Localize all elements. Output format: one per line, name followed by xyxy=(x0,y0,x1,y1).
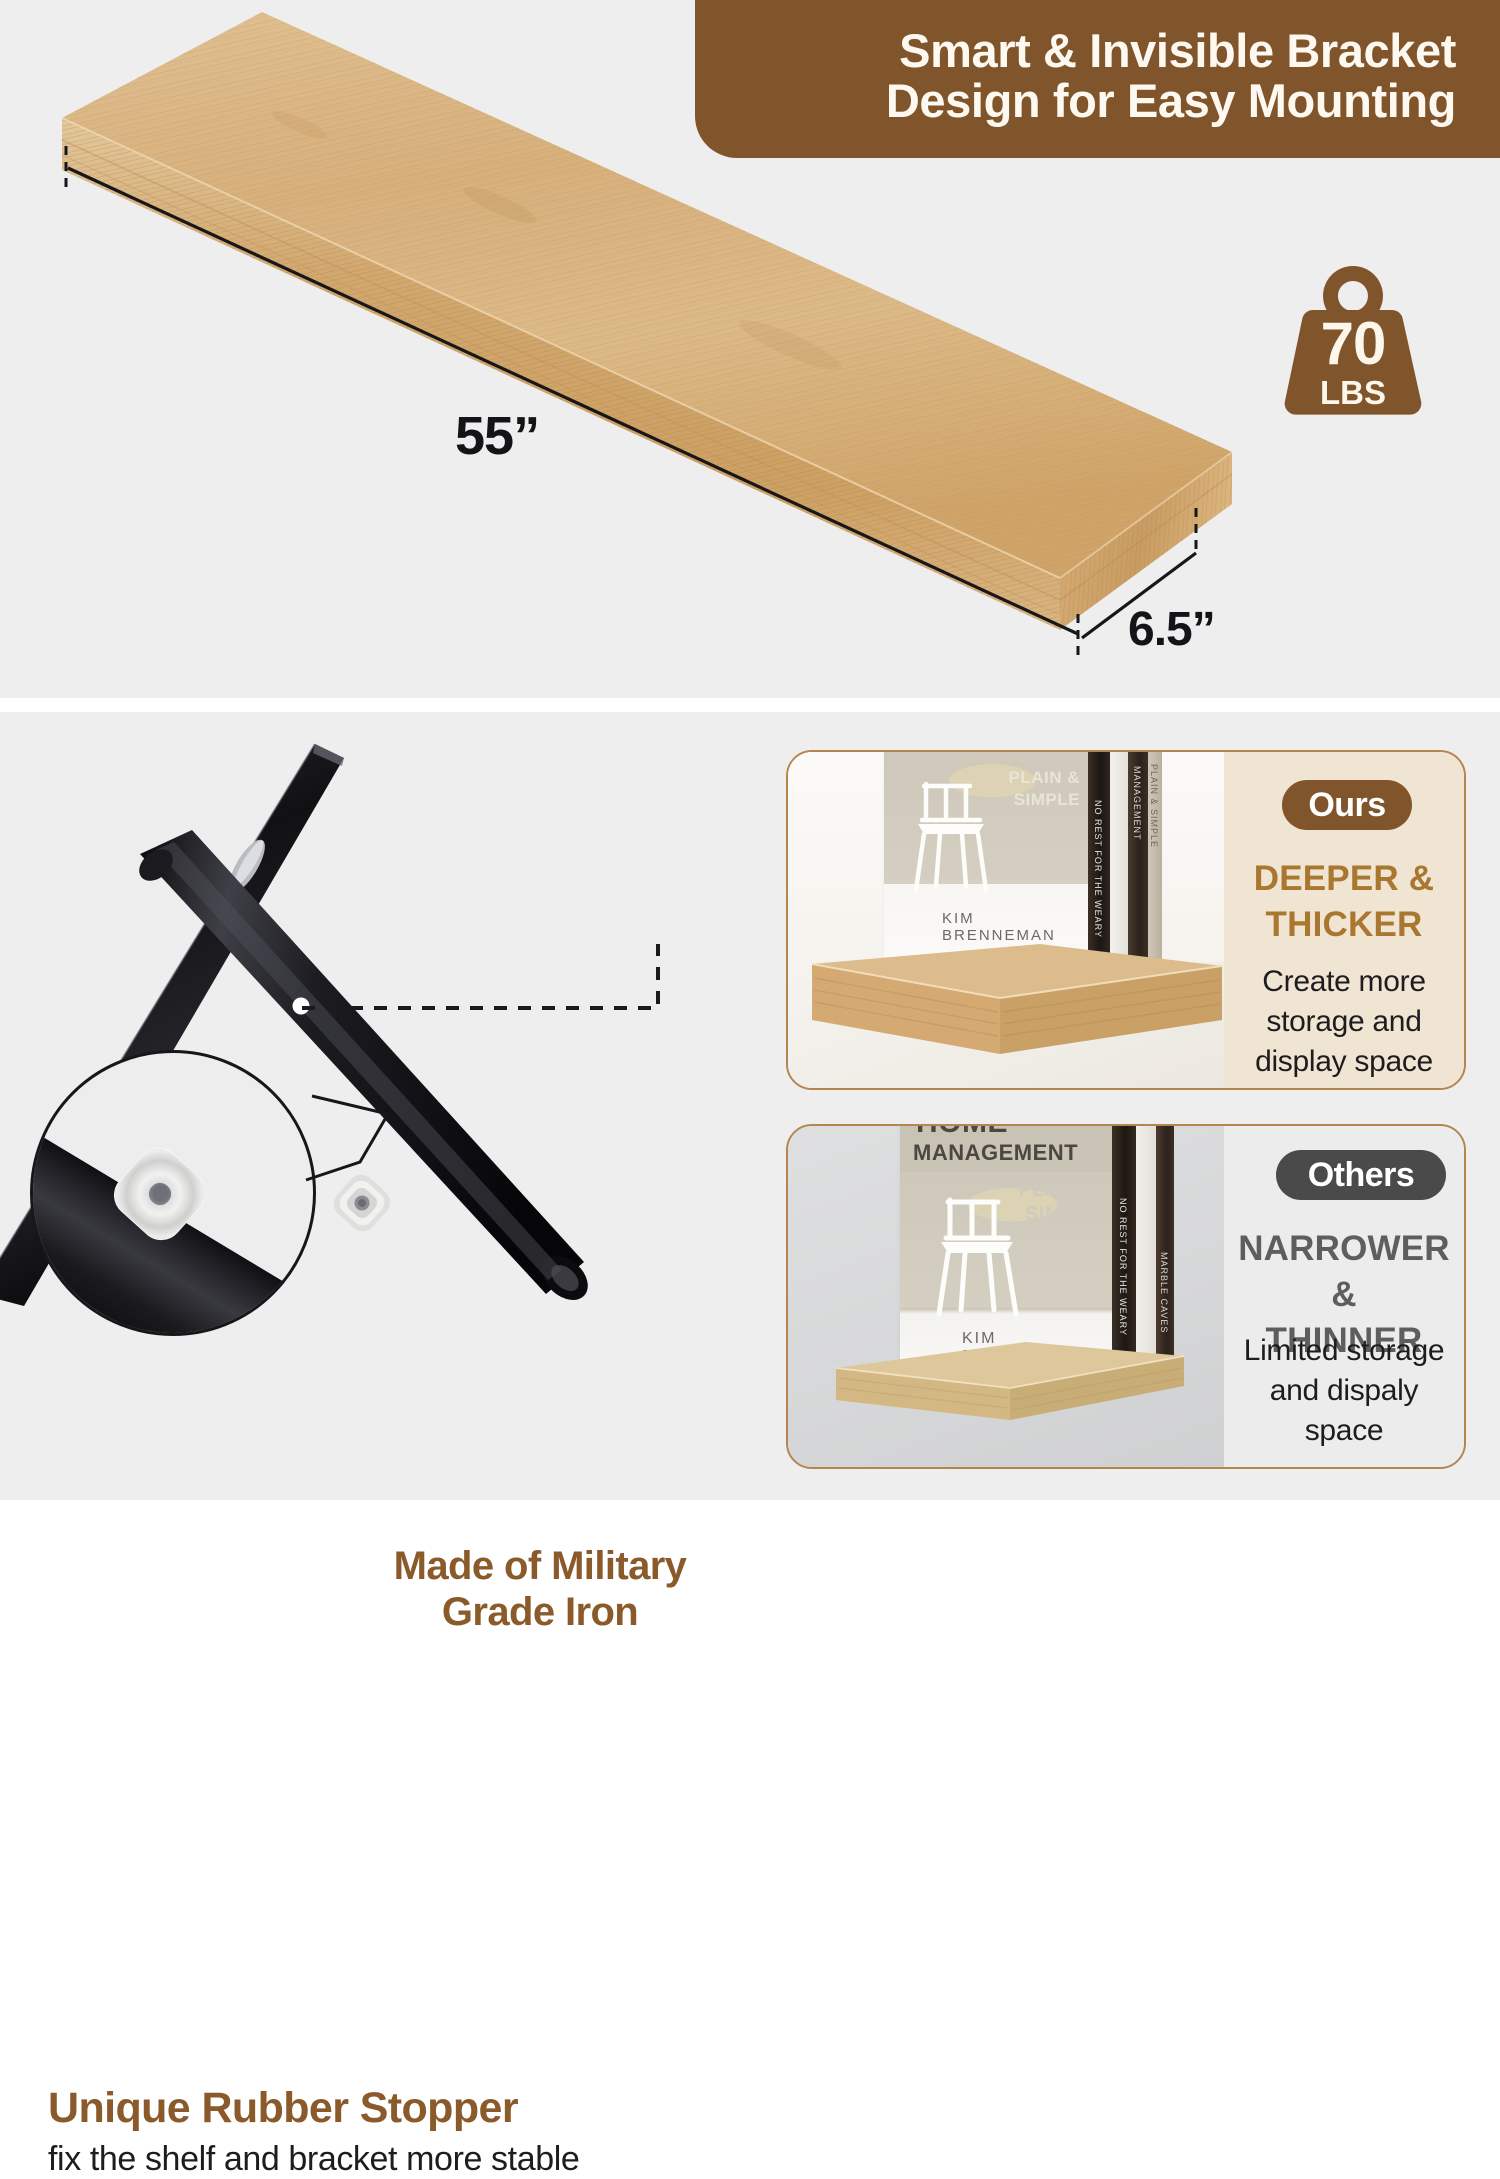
section-divider xyxy=(0,698,1500,712)
depth-dimension-label: 6.5” xyxy=(1128,602,1215,657)
military-line-1: Made of Military xyxy=(340,1544,740,1590)
others-photo: HOME MANAGEMENT PLAIN & SIMPLE KIM BRENN… xyxy=(788,1126,1224,1467)
weight-unit: LBS xyxy=(1283,376,1423,409)
others-body-line3: space xyxy=(1224,1411,1464,1451)
ours-book-title-line1: PLAIN & xyxy=(1009,768,1081,788)
features-section: Made of Military Grade Iron Unique Rubbe… xyxy=(0,712,1500,1500)
ours-pill: Ours xyxy=(1282,780,1412,830)
others-shelf xyxy=(788,1316,1224,1469)
military-callout-line xyxy=(290,932,690,1052)
others-book-title: MANAGEMENT xyxy=(913,1140,1078,1166)
ours-body: Create more storage and display space xyxy=(1224,962,1464,1082)
military-grade-heading: Made of Military Grade Iron xyxy=(340,1544,740,1635)
others-pill-label: Others xyxy=(1308,1156,1415,1195)
ours-heading: DEEPER & THICKER xyxy=(1224,856,1464,948)
headline-banner: Smart & Invisible Bracket Design for Eas… xyxy=(695,0,1500,158)
rubber-stopper-subtitle: fix the shelf and bracket more stable xyxy=(48,2140,768,2179)
ours-pill-label: Ours xyxy=(1308,786,1385,825)
ours-spine-3-text: MANAGEMENT xyxy=(1132,766,1142,841)
ours-spine-4-text: PLAIN & SIMPLE xyxy=(1149,764,1159,848)
military-line-2: Grade Iron xyxy=(340,1590,740,1636)
ours-text-panel: Ours DEEPER & THICKER Create more storag… xyxy=(1224,752,1464,1088)
ours-book-title-line2: SIMPLE xyxy=(1014,790,1080,810)
others-book-sub2: SIMPLE xyxy=(1025,1204,1102,1226)
ours-chair-icon xyxy=(902,766,1012,916)
magnifier-pointer xyxy=(240,1070,460,1210)
ours-photo: PLAIN & SIMPLE KIM BRENNEMAN NO REST FOR… xyxy=(788,752,1224,1088)
comparison-card-others: HOME MANAGEMENT PLAIN & SIMPLE KIM BRENN… xyxy=(786,1124,1466,1469)
others-pill: Others xyxy=(1276,1150,1446,1200)
others-book-title-top: HOME xyxy=(916,1124,1008,1140)
weight-value: 70 xyxy=(1283,314,1423,374)
ours-body-line3: display space xyxy=(1224,1042,1464,1082)
rubber-stopper-title: Unique Rubber Stopper xyxy=(48,2084,748,2133)
ours-body-line1: Create more xyxy=(1224,962,1464,1002)
product-dimensions-section: 55” 6.5” Smart & Invisible Bracket Desig… xyxy=(0,0,1500,700)
ours-heading-line2: THICKER xyxy=(1224,902,1464,948)
weight-capacity-badge: 70 LBS xyxy=(1283,262,1423,417)
headline-line-2: Design for Easy Mounting xyxy=(886,76,1456,126)
others-body: Limited storage and dispaly space xyxy=(1224,1331,1464,1451)
others-body-line1: Limited storage xyxy=(1224,1331,1464,1371)
others-book-sub1: PLAIN & xyxy=(1019,1180,1102,1202)
ours-heading-line1: DEEPER & xyxy=(1224,856,1464,902)
length-dimension-label: 55” xyxy=(455,405,539,467)
comparison-card-ours: PLAIN & SIMPLE KIM BRENNEMAN NO REST FOR… xyxy=(786,750,1466,1090)
others-text-panel: Others NARROWER & THINNER Limited storag… xyxy=(1224,1126,1464,1467)
ours-shelf xyxy=(788,902,1224,1090)
others-heading-line1: NARROWER & xyxy=(1224,1226,1464,1318)
others-body-line2: and dispaly xyxy=(1224,1371,1464,1411)
weight-badge-text: 70 LBS xyxy=(1283,314,1423,409)
headline-line-1: Smart & Invisible Bracket xyxy=(899,26,1456,76)
ours-body-line2: storage and xyxy=(1224,1002,1464,1042)
